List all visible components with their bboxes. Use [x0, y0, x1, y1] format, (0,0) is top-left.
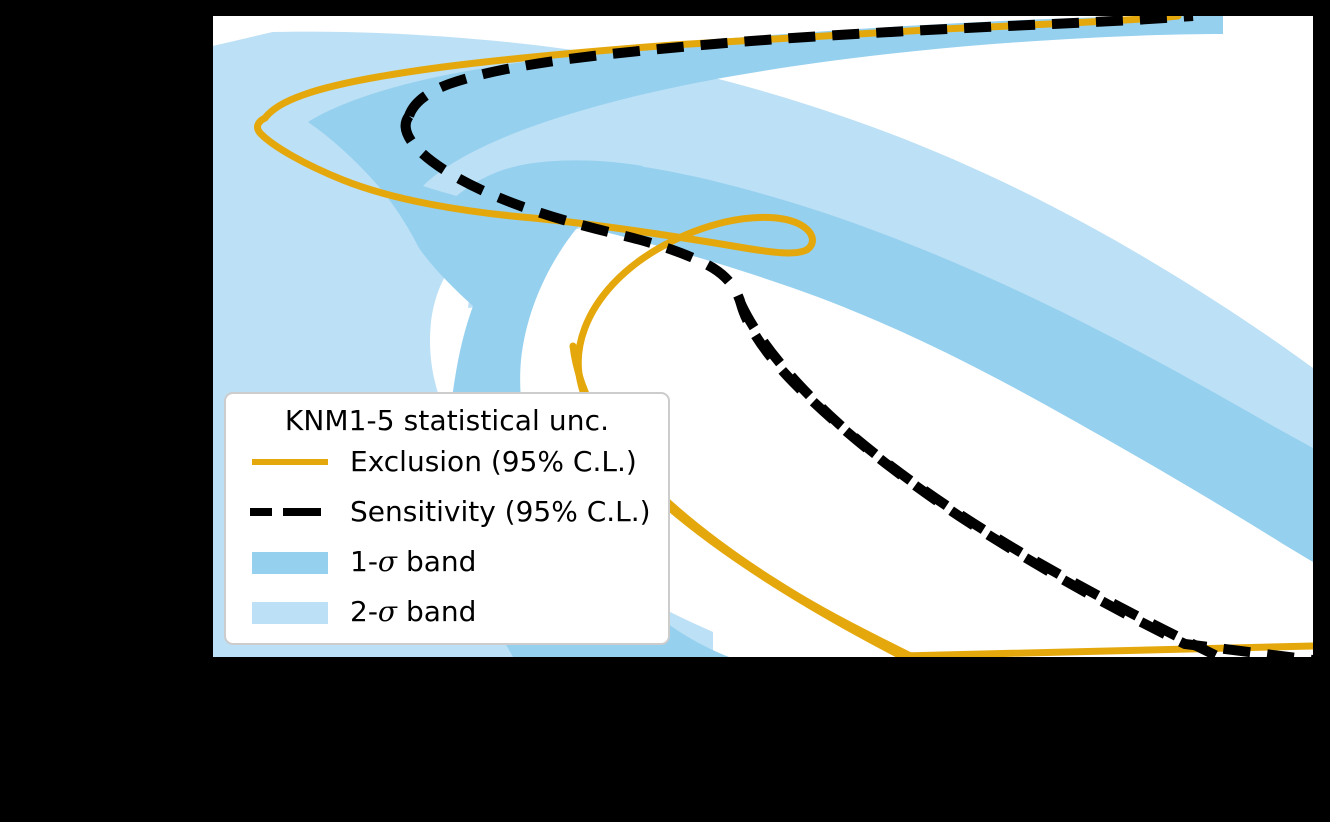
- legend-handle-dashed-line: [248, 497, 332, 527]
- sigma-glyph: σ: [378, 545, 397, 578]
- legend-handle-solid-line: [248, 447, 332, 477]
- band-1sigma-swatch-icon: [252, 552, 328, 574]
- legend-entry-band-1sigma: 1-σ band: [226, 537, 668, 587]
- solid-line-icon: [252, 459, 328, 465]
- figure-canvas: KNM1-5 statistical unc. Exclusion (95% C…: [0, 0, 1330, 822]
- chart-legend: KNM1-5 statistical unc. Exclusion (95% C…: [224, 392, 670, 645]
- legend-label-1sigma-pre: 1-: [350, 545, 378, 578]
- legend-label-exclusion: Exclusion (95% C.L.): [350, 448, 637, 476]
- dashed-line-icon: [250, 508, 330, 516]
- legend-handle-swatch-1sigma: [248, 547, 332, 577]
- legend-label-sensitivity: Sensitivity (95% C.L.): [350, 498, 651, 526]
- legend-entry-exclusion: Exclusion (95% C.L.): [226, 437, 668, 487]
- legend-label-band-1sigma: 1-σ band: [350, 548, 476, 576]
- legend-entry-band-2sigma: 2-σ band: [226, 587, 668, 637]
- legend-label-2sigma-pre: 2-: [350, 595, 378, 628]
- band-2sigma-swatch-icon: [252, 602, 328, 624]
- legend-label-2sigma-post: band: [397, 595, 476, 628]
- legend-handle-swatch-2sigma: [248, 597, 332, 627]
- legend-label-1sigma-post: band: [397, 545, 476, 578]
- legend-entry-sensitivity: Sensitivity (95% C.L.): [226, 487, 668, 537]
- legend-label-band-2sigma: 2-σ band: [350, 598, 476, 626]
- legend-title: KNM1-5 statistical unc.: [226, 394, 668, 437]
- sigma-glyph: σ: [378, 595, 397, 628]
